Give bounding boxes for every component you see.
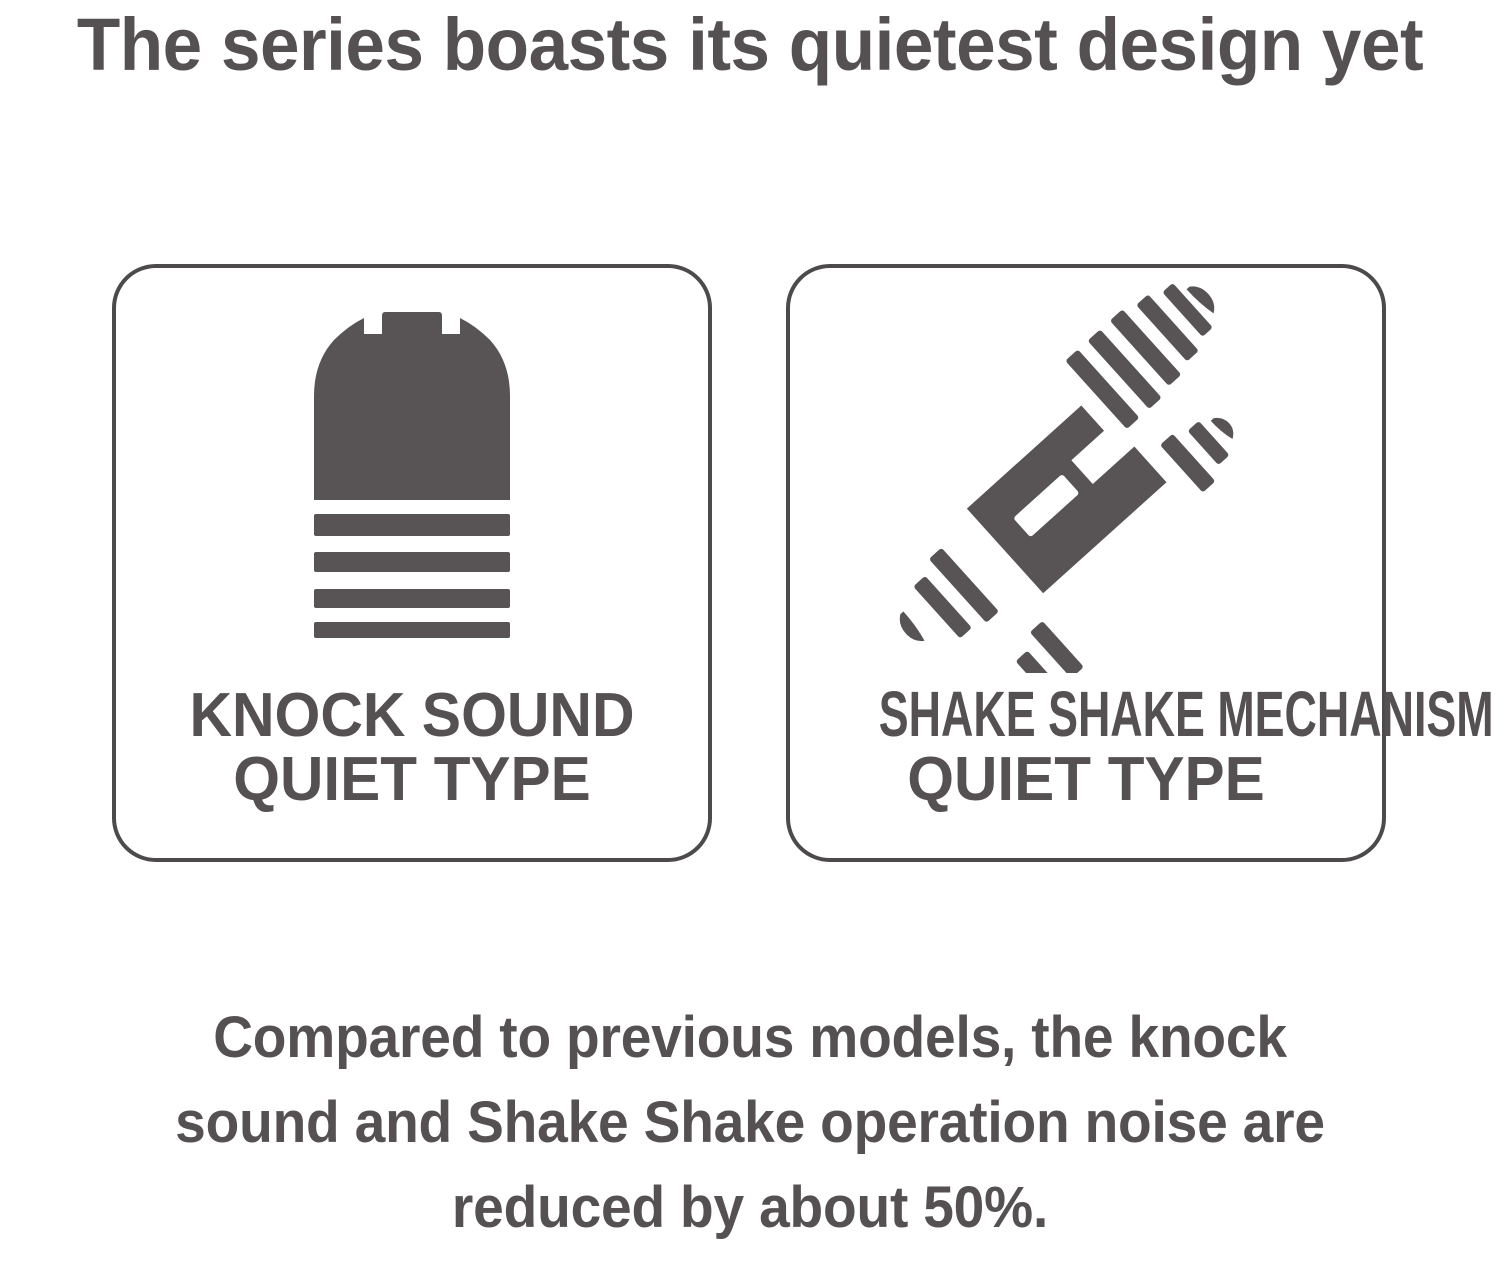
card-caption: KNOCK SOUND QUIET TYPE [116,684,708,812]
shake-mechanism-icon [790,268,1382,678]
feature-card-shake-mechanism: SHAKE SHAKE MECHANISM QUIET TYPE [786,264,1386,862]
card-caption-line2: QUIET TYPE [125,748,699,812]
footer-line-3: reduced by about 50%. [123,1165,1377,1250]
card-caption-line2: QUIET TYPE [799,748,1373,812]
card-caption: SHAKE SHAKE MECHANISM QUIET TYPE [790,682,1382,812]
card-caption-line1: KNOCK SOUND [131,684,693,747]
footer-description: Compared to previous models, the knock s… [90,995,1410,1250]
page-title: The series boasts its quietest design ye… [30,0,1470,92]
knock-button-icon [116,268,708,678]
feature-card-knock-sound: KNOCK SOUND QUIET TYPE [112,264,712,862]
footer-line-2: sound and Shake Shake operation noise ar… [123,1080,1377,1165]
feature-cards-row: KNOCK SOUND QUIET TYPE [0,264,1500,864]
card-caption-line1: SHAKE SHAKE MECHANISM [879,682,1293,747]
footer-line-1: Compared to previous models, the knock [123,995,1377,1080]
